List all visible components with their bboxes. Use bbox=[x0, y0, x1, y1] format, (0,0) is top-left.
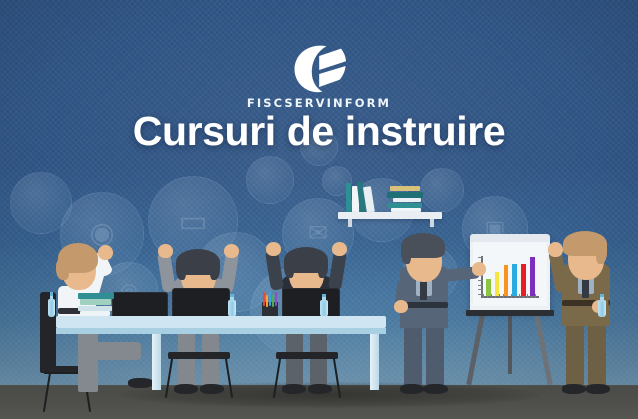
shelf-stacked-book bbox=[393, 198, 421, 202]
pen bbox=[263, 292, 265, 306]
chart-bar bbox=[512, 264, 517, 296]
bottle-cap bbox=[50, 292, 53, 296]
shelf-board bbox=[338, 212, 442, 219]
desk-book bbox=[78, 306, 112, 311]
shelf-bracket-right bbox=[430, 219, 434, 227]
chart-bars bbox=[483, 255, 541, 296]
shelf-bracket-left bbox=[348, 219, 352, 227]
water-bottle bbox=[48, 292, 55, 317]
water-bottle bbox=[320, 294, 328, 317]
desk-book bbox=[78, 293, 114, 299]
chart-bar bbox=[530, 257, 535, 296]
pen bbox=[275, 292, 277, 306]
flip-chart-bar-chart bbox=[483, 255, 541, 298]
laptop bbox=[112, 292, 168, 318]
shelf-stacked-book bbox=[387, 192, 423, 198]
brand-logo: FISCSERVINFORM bbox=[0, 44, 638, 110]
fiscservinform-e-logo-icon bbox=[286, 44, 352, 94]
chart-bar bbox=[521, 264, 526, 297]
chart-bar bbox=[486, 279, 491, 297]
chart-bar bbox=[495, 272, 500, 296]
desk-book bbox=[80, 299, 111, 305]
chart-bar bbox=[504, 265, 509, 296]
training-banner: ◉◎▭✉▣ FISCSERVINFORM Cursuri de instruir… bbox=[0, 0, 638, 419]
shelf-stacked-book bbox=[388, 203, 422, 208]
pen bbox=[272, 295, 274, 307]
page-title: Cursuri de instruire bbox=[0, 108, 638, 155]
pen bbox=[266, 295, 268, 307]
bottle-body bbox=[228, 300, 236, 317]
shelf-books bbox=[344, 182, 436, 213]
bottle-body bbox=[320, 300, 328, 317]
laptop bbox=[282, 288, 340, 318]
shelf-stacked-book bbox=[390, 186, 420, 191]
water-bottle bbox=[228, 294, 236, 317]
pen bbox=[269, 292, 271, 306]
bottle-body bbox=[48, 299, 55, 317]
bottle-cap bbox=[230, 294, 234, 297]
laptop bbox=[172, 288, 230, 318]
bottle-cap bbox=[322, 294, 326, 297]
bottle-body bbox=[598, 300, 606, 317]
bottle-cap bbox=[600, 294, 604, 297]
shelf-book bbox=[346, 183, 351, 213]
water-bottle bbox=[598, 294, 606, 317]
